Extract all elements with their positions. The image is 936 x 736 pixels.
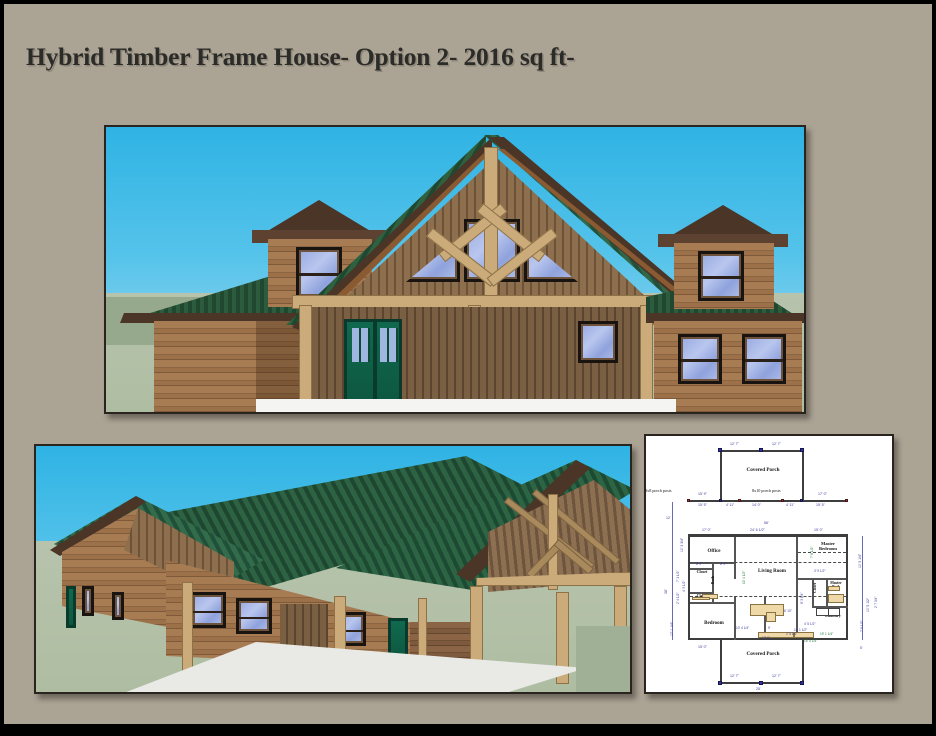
front-elevation-rendering[interactable] [104, 125, 806, 414]
dim-inner-15: 19' 1 1/4" [820, 632, 833, 636]
dim-right-3: 2' 7 3/4" [874, 597, 878, 609]
front-window-right-a [678, 334, 722, 384]
dim-left-7: 38' [664, 589, 668, 594]
door-lite-right [380, 328, 398, 362]
dim-ext-left [672, 502, 673, 640]
room-label-covered-porch-bottom: Covered Porch [722, 652, 804, 657]
porch-post-marker [800, 681, 804, 685]
porch-post-left [299, 305, 312, 412]
dim-right-5: 5' [860, 646, 863, 650]
dim-band-5: 15' 5" [816, 503, 825, 507]
interior-wall-upper [688, 534, 848, 537]
room-label-covered-porch-top: Covered Porch [722, 468, 804, 473]
dim-bottom-total: 25' [756, 687, 761, 691]
dim-upper-left: 15' 9" [698, 492, 707, 496]
dim-band-2: 4' 11" [726, 503, 734, 507]
page-title: Hybrid Timber Frame House- Option 2- 201… [26, 42, 575, 72]
room-label-closet-1: Closet [690, 570, 714, 574]
closet-shelf [692, 597, 710, 600]
porch-post-marker [800, 499, 803, 502]
persp-window-2 [236, 598, 272, 634]
window-mullion [701, 276, 741, 279]
corner-perspective-rendering[interactable] [34, 444, 632, 694]
building-wall-top [688, 500, 848, 502]
porch-post-marker [800, 448, 804, 452]
note-8x10-porch-posts: 8x10 porch posts [752, 488, 781, 493]
note-8x8-porch-posts: 8x8 porch posts [645, 488, 672, 493]
slide-canvas: Hybrid Timber Frame House- Option 2- 201… [4, 4, 932, 724]
dim-bottom-a: 12' 7" [730, 674, 739, 678]
dormer-right-window [698, 251, 744, 301]
master-bath-vanity [828, 586, 840, 591]
dim-inner-13: 10' 1 1/2" [794, 628, 807, 632]
dim-bottom-right: 15' 0" [698, 645, 707, 649]
dim-mid-left: 17' 0" [702, 528, 711, 532]
door-mullion-center [373, 322, 377, 404]
dim-mid-total: 56' [764, 521, 769, 525]
dim-inner-7: 6' 10" [784, 609, 792, 613]
porch-post-marker [687, 499, 690, 502]
dim-band-4: 4' 11" [786, 503, 794, 507]
dim-inner-12: 2' 5 1/2" [786, 632, 798, 636]
persp-porch-post-1 [182, 582, 193, 672]
dim-inner-1: 8' 9" [696, 562, 702, 566]
dim-right-4: 7' 6 1/2" [860, 621, 864, 633]
partition-office-right [734, 537, 736, 579]
entry-door-pair [344, 319, 402, 407]
persp-window-1 [190, 592, 226, 628]
lower-porch-left [720, 640, 722, 684]
dim-left-6: 17' 1 1/4" [670, 622, 674, 636]
partition-master-bottom [798, 578, 846, 580]
dim-upper-right: 17' 0" [818, 492, 827, 496]
room-label-living-room: Living Room [748, 569, 796, 574]
front-elevation-scene [106, 127, 804, 412]
dim-right-2: 10' 5 1/2" [866, 598, 870, 612]
porch-post-marker [781, 499, 784, 502]
room-label-bath: Bath [711, 575, 715, 585]
room-label-master-closet: Closet [813, 583, 817, 593]
side-window-b [112, 592, 124, 620]
porch-post-marker [845, 499, 848, 502]
dim-left-1: 12' [666, 516, 671, 520]
window-mullion [681, 359, 719, 362]
dim-band-1: 15' 5" [698, 503, 707, 507]
porch-post-marker [759, 681, 763, 685]
side-door [66, 586, 76, 628]
porch-wall-left [720, 450, 722, 500]
dim-top-b: 12' 7" [772, 442, 781, 446]
dim-inner-14: 15' 4 1/4" [804, 639, 817, 643]
building-wall-left [688, 534, 690, 640]
dim-left-4: 4' 3 1/2" [682, 581, 686, 593]
dim-right-1: 10' 5 1/4" [858, 554, 862, 568]
dim-inner-6: 12' 6" [762, 636, 770, 640]
dim-inner-10: 7' 8 1/2" [810, 547, 814, 559]
dashed-ref-line-a [690, 562, 846, 563]
room-label-office: Office [694, 549, 734, 554]
dim-inner-4: 10' 4 1/4" [736, 626, 749, 630]
front-window-right-b [742, 334, 786, 384]
dim-inner-11: 8' 3 1/4" [800, 593, 804, 605]
dim-inner-8: 3' 9 1/2" [814, 569, 826, 573]
partition-bedroom-top [690, 602, 736, 604]
window-mullion [193, 611, 223, 613]
porch-post-marker [718, 681, 722, 685]
dim-left-2: 10' 3 3/4" [680, 538, 684, 552]
dim-band-3: 14' 0" [752, 503, 761, 507]
porch-slab [256, 399, 676, 412]
dim-inner-3: 10' 4 1/2" [742, 571, 746, 584]
dim-inner-9: 4' 5 1/2" [804, 622, 816, 626]
floor-plan-drawing[interactable]: Covered Porch 12' 7" 12' 7" 8x8 porch po… [644, 434, 894, 694]
porch-post-marker [759, 448, 763, 452]
laundry-divider [828, 608, 829, 616]
window-mullion [239, 617, 269, 619]
dim-left-5: 2' 4 1/2" [676, 593, 680, 605]
porch-post-marker [738, 499, 741, 502]
perspective-scene [36, 446, 630, 692]
porch-post-marker [719, 499, 722, 502]
side-window-a [82, 586, 94, 616]
master-bath-tub [828, 594, 844, 603]
partition-bedroom-right [734, 596, 736, 640]
dim-left-3: 7' 1 1/2" [676, 571, 680, 583]
porch-wall-right [802, 450, 804, 500]
kitchen-counter [766, 612, 776, 622]
dim-mid-right: 15' 0" [814, 528, 823, 532]
dim-inner-2: 6' 9" [720, 562, 726, 566]
dim-inner-5: 9' [768, 626, 770, 630]
porch-window [578, 321, 618, 363]
room-label-bedroom: Bedroom [692, 621, 736, 626]
dim-top-a: 12' 7" [730, 442, 739, 446]
window-mullion [299, 273, 339, 276]
dim-mid-center: 24' 6 1/2" [750, 528, 765, 532]
dashed-ref-line-c [798, 552, 846, 553]
persp-shadow-right [576, 626, 630, 692]
floor-plan-sheet: Covered Porch 12' 7" 12' 7" 8x8 porch po… [646, 436, 892, 692]
window-mullion [745, 359, 783, 362]
dim-bottom-b: 12' 7" [772, 674, 781, 678]
porch-post-marker [718, 448, 722, 452]
lower-porch-right [802, 640, 804, 684]
door-lite-left [352, 328, 370, 362]
